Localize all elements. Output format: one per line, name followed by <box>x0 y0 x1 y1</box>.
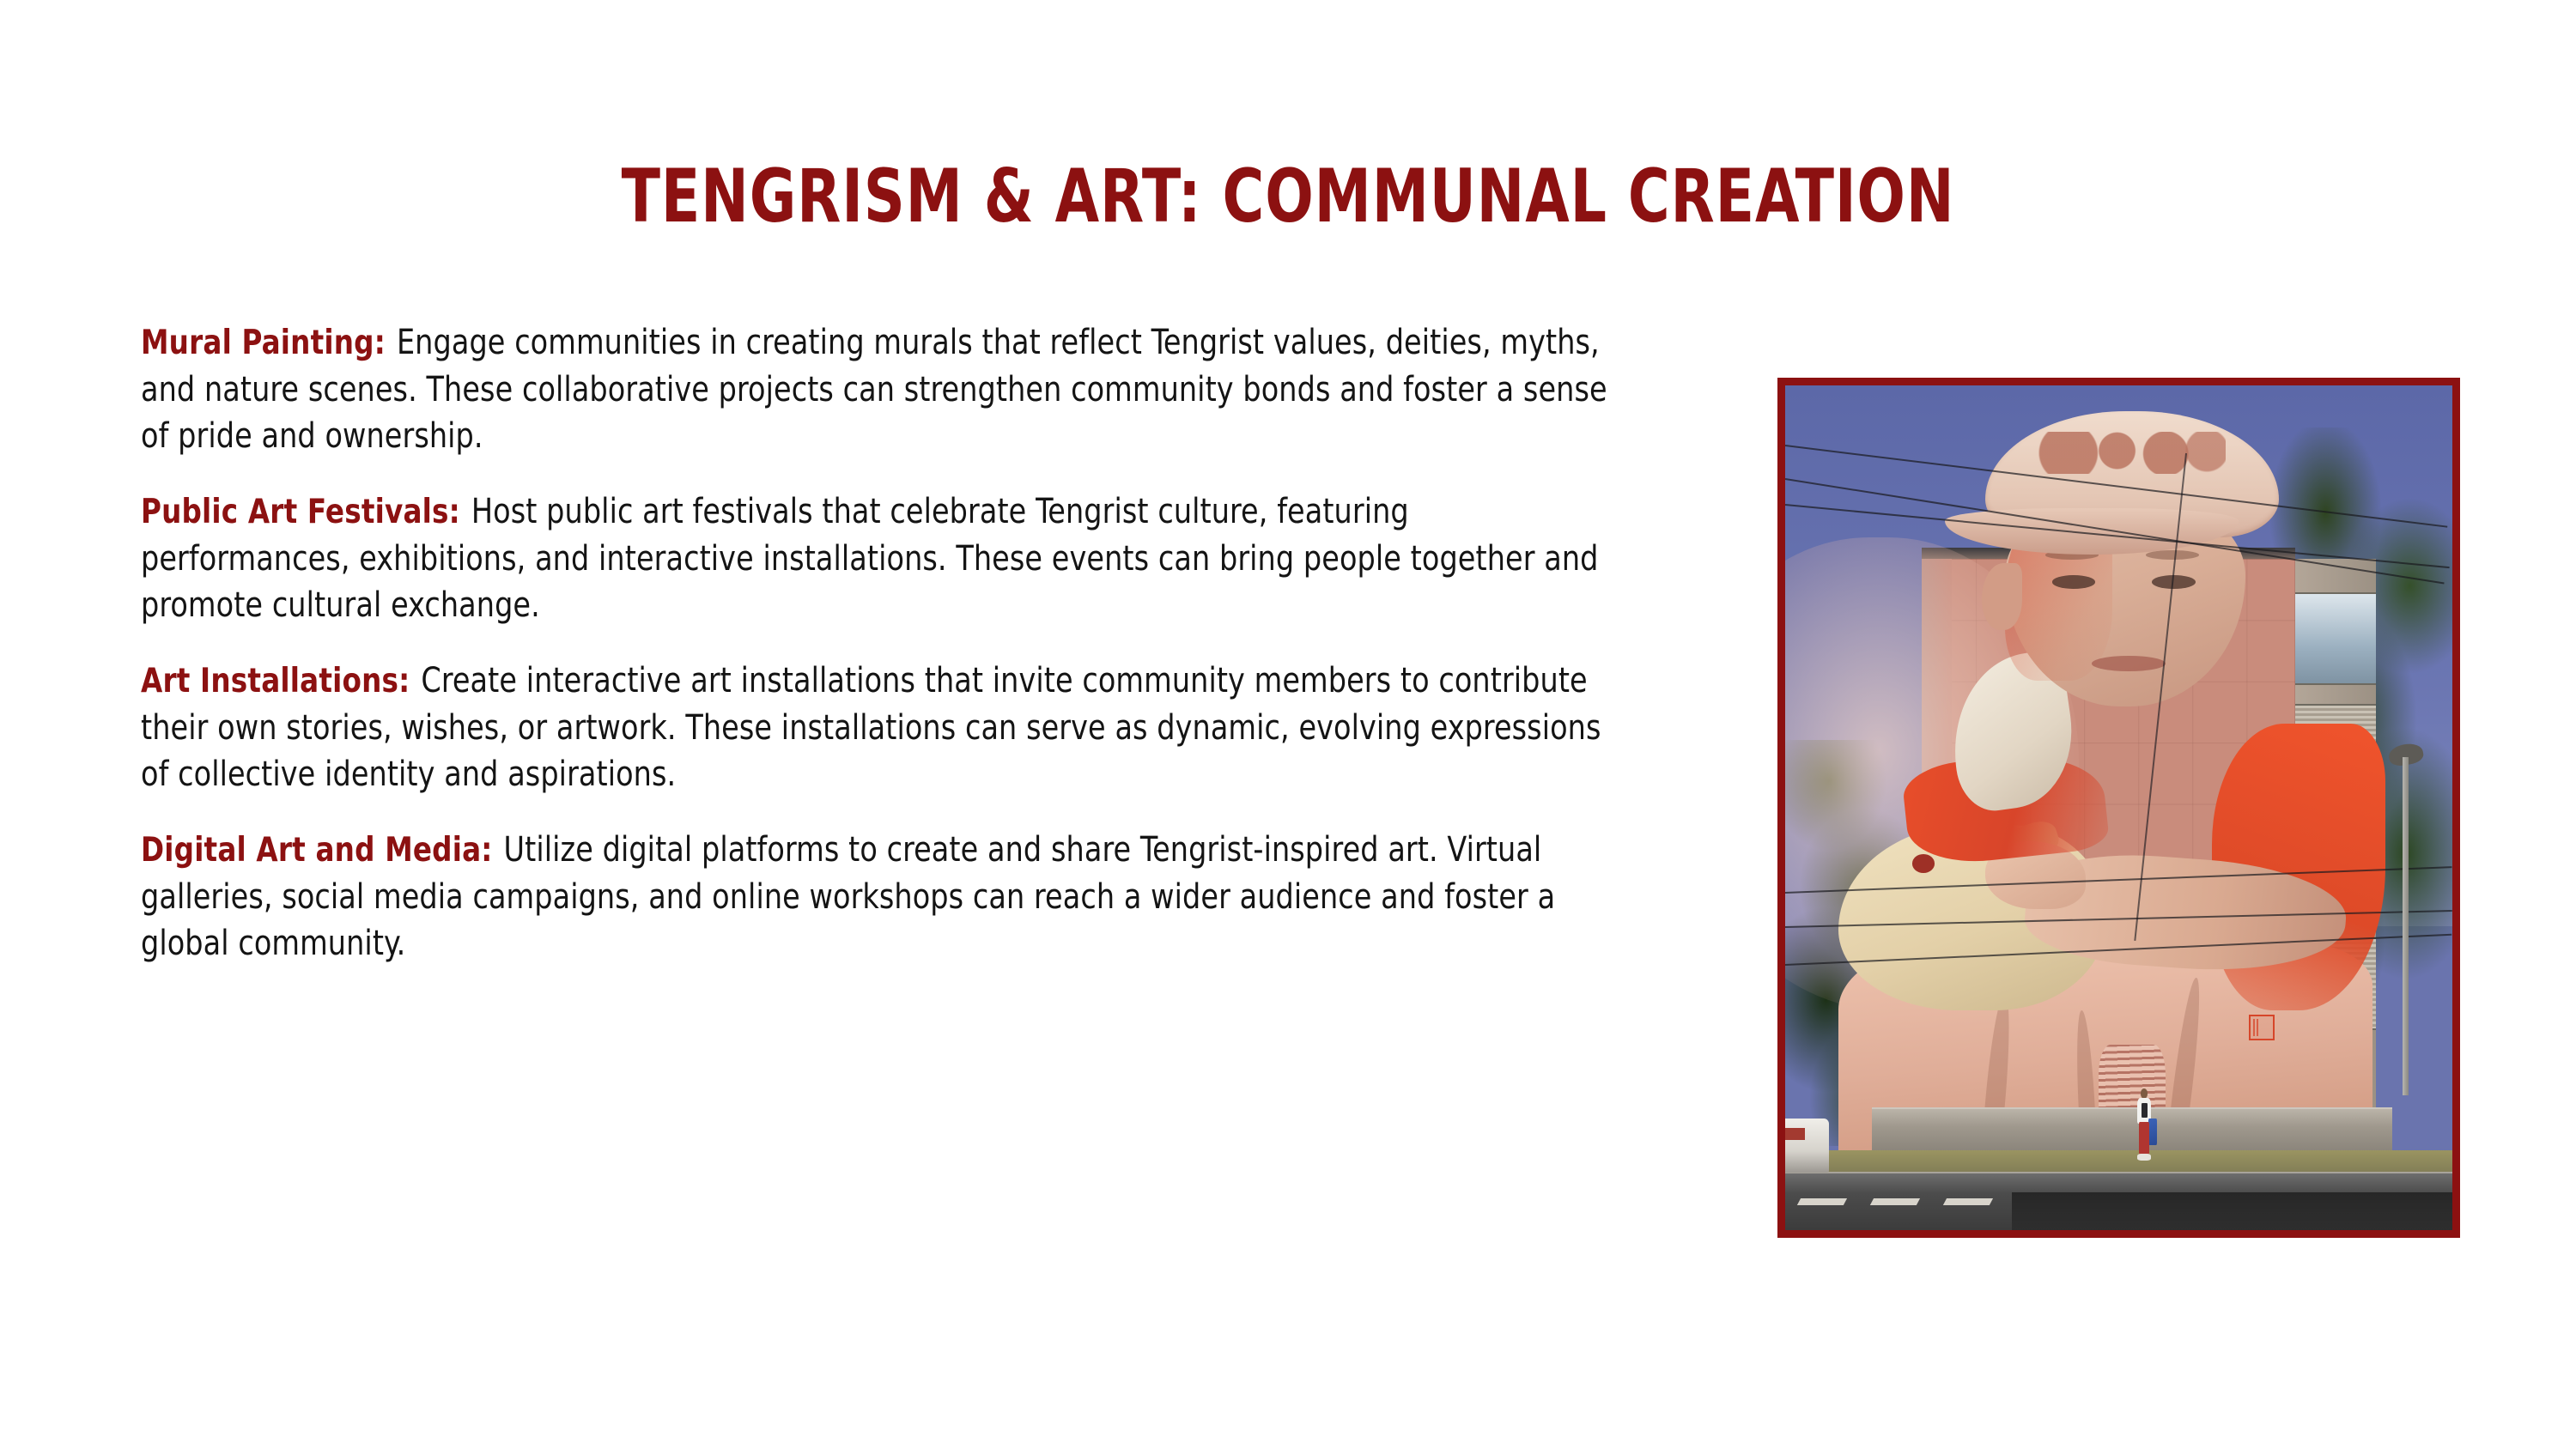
section-heading-digital-art-and-media: Digital Art and Media: <box>141 831 493 870</box>
mural-figure-ear <box>1982 563 2022 631</box>
section-paragraph-mural-painting: Mural Painting:Engage communities in cre… <box>141 319 1619 459</box>
balcony-window-top <box>2295 592 2375 685</box>
lamb-eye <box>1912 854 1935 873</box>
section-heading-art-installations: Art Installations: <box>141 662 410 700</box>
section-paragraph-public-art-festivals: Public Art Festivals:Host public art fes… <box>141 488 1619 628</box>
parked-white-van <box>1785 1119 1829 1173</box>
crosswalk-stripe-three <box>1943 1198 1994 1205</box>
street-lamp-pole <box>2403 757 2409 1095</box>
pedestrian-legs <box>2139 1122 2150 1154</box>
road-shadow <box>2012 1192 2452 1230</box>
pedestrian-head <box>2141 1088 2148 1099</box>
section-paragraph-art-installations: Art Installations:Create interactive art… <box>141 658 1619 797</box>
pedestrian-shoes <box>2137 1154 2150 1161</box>
slide-canvas: TENGRISM & ART: COMMUNAL CREATION Mural … <box>0 0 2576 1449</box>
building-concrete-plinth <box>1872 1107 2392 1151</box>
crosswalk-stripe-one <box>1796 1198 1847 1205</box>
pedestrian-shopping-bag <box>2148 1119 2157 1144</box>
body-text-column: Mural Painting:Engage communities in cre… <box>141 319 1729 967</box>
section-heading-public-art-festivals: Public Art Festivals: <box>141 493 460 531</box>
mural-eyebrow-right <box>2146 550 2199 560</box>
section-paragraph-digital-art-and-media: Digital Art and Media:Utilize digital pl… <box>141 827 1619 967</box>
page-title: TENGRISM & ART: COMMUNAL CREATION <box>180 160 2396 235</box>
section-heading-mural-painting: Mural Painting: <box>141 324 386 362</box>
mural-photo-frame <box>1777 378 2460 1238</box>
crosswalk-stripe-two <box>1870 1198 1921 1205</box>
mural-mouth <box>2092 656 2165 671</box>
mural-photo <box>1785 385 2452 1230</box>
pedestrian <box>2136 1088 2153 1161</box>
pedestrian-backpack <box>2142 1103 2148 1118</box>
artist-signature-stamp <box>2249 1015 2275 1040</box>
cap-ornament-pattern <box>2038 432 2226 474</box>
